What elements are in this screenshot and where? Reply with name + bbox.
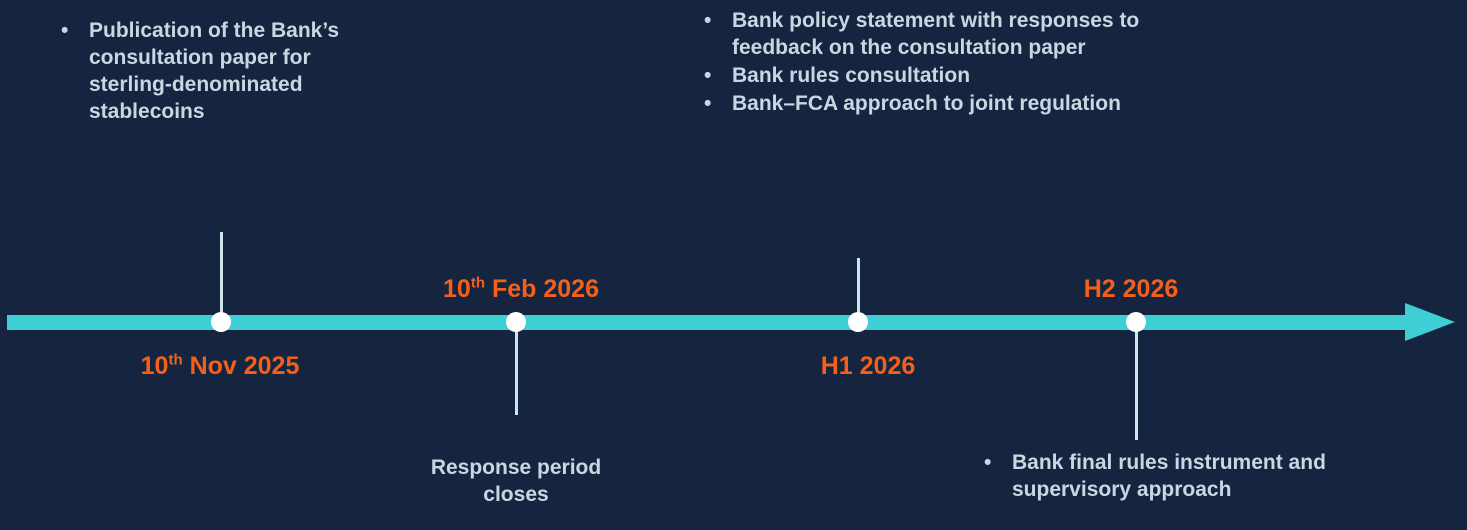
bullet-icon: •: [704, 63, 711, 90]
list-item: • Bank–FCA approach to joint regulation: [695, 91, 1155, 118]
list-item: • Bank policy statement with responses t…: [695, 8, 1155, 62]
milestone-node-feb-2026[interactable]: [506, 312, 526, 332]
milestone-node-h1-2026[interactable]: [848, 312, 868, 332]
stem-feb-2026: [515, 322, 518, 415]
date-label-h2-2026: H2 2026: [1084, 275, 1179, 304]
list-item: • Publication of the Bank’s consultation…: [52, 18, 397, 126]
date-ordinal-suffix: th: [471, 275, 485, 292]
stem-nov-2025: [220, 232, 223, 322]
bullet-list-h1-2026: • Bank policy statement with responses t…: [695, 8, 1155, 118]
timeline-arrow-icon: [1405, 303, 1455, 341]
date-rest: Feb 2026: [485, 275, 599, 303]
list-item-label: Bank rules consultation: [732, 64, 970, 87]
timeline-slide: • Publication of the Bank’s consultation…: [0, 0, 1467, 530]
milestone-node-nov-2025[interactable]: [211, 312, 231, 332]
list-item: • Bank final rules instrument and superv…: [975, 450, 1415, 504]
milestone-content-nov-2025: • Publication of the Bank’s consultation…: [52, 18, 397, 127]
list-item-label: Publication of the Bank’s consultation p…: [89, 19, 339, 123]
caption-label: Response period closes: [396, 455, 636, 509]
list-item-label: Bank–FCA approach to joint regulation: [732, 92, 1121, 115]
date-label-feb-2026: 10th Feb 2026: [443, 275, 599, 304]
bullet-icon: •: [61, 18, 68, 45]
date-rest: Nov 2025: [183, 352, 300, 380]
milestone-content-h2-2026: • Bank final rules instrument and superv…: [975, 450, 1415, 505]
milestone-node-h2-2026[interactable]: [1126, 312, 1146, 332]
date-day: 10: [443, 275, 471, 303]
date-day: H1 2026: [821, 352, 916, 380]
bullet-list-h2-2026: • Bank final rules instrument and superv…: [975, 450, 1415, 504]
bullet-list-nov-2025: • Publication of the Bank’s consultation…: [52, 18, 397, 126]
bullet-icon: •: [704, 8, 711, 35]
bullet-icon: •: [704, 91, 711, 118]
list-item-label: Bank policy statement with responses to …: [732, 9, 1139, 59]
stem-h2-2026: [1135, 322, 1138, 440]
milestone-content-h1-2026: • Bank policy statement with responses t…: [695, 8, 1155, 119]
date-day: H2 2026: [1084, 275, 1179, 303]
milestone-content-feb-2026: Response period closes: [396, 455, 636, 509]
date-day: 10: [141, 352, 169, 380]
bullet-icon: •: [984, 450, 991, 477]
date-label-h1-2026: H1 2026: [821, 352, 916, 381]
date-ordinal-suffix: th: [168, 352, 182, 369]
list-item-label: Bank final rules instrument and supervis…: [1012, 451, 1326, 501]
date-label-nov-2025: 10th Nov 2025: [141, 352, 300, 381]
list-item: • Bank rules consultation: [695, 63, 1155, 90]
